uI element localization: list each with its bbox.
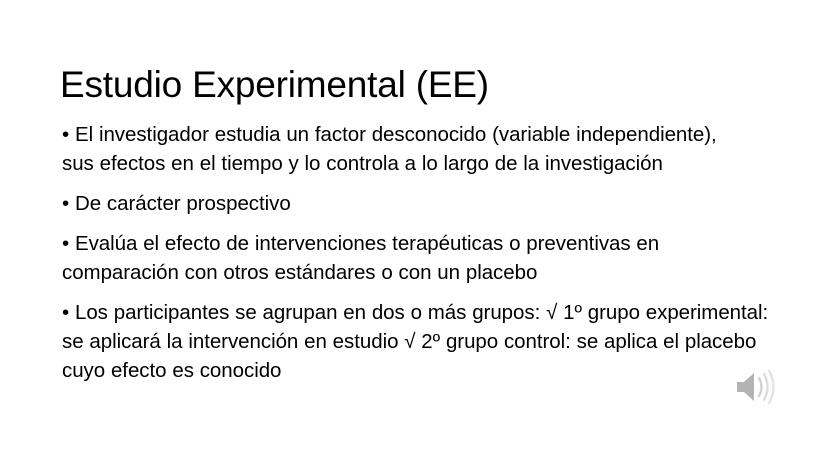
slide-body-text: • El investigador estudia un factor desc… (62, 120, 774, 385)
bullet-item: • Los participantes se agrupan en dos o … (62, 298, 774, 385)
bullet-item: • Evalúa el efecto de intervenciones ter… (62, 229, 727, 287)
presentation-slide: Estudio Experimental (EE) • El investiga… (0, 0, 828, 466)
bullet-item: • El investigador estudia un factor desc… (62, 120, 752, 178)
speaker-audio-icon[interactable] (733, 368, 779, 406)
bullet-item: • De carácter prospectivo (62, 189, 752, 218)
page-title: Estudio Experimental (EE) (60, 63, 772, 107)
